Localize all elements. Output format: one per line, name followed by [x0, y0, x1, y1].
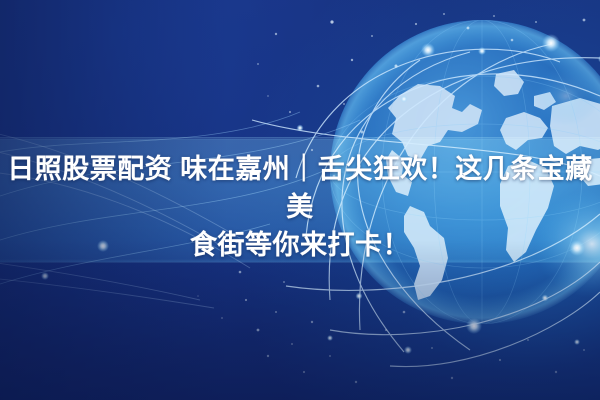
- banner-headline: 日照股票配资 味在嘉州｜舌尖狂欢！这几条宝藏美 食街等你来打卡！: [0, 150, 600, 264]
- headline-line-1: 日照股票配资 味在嘉州｜舌尖狂欢！这几条宝藏美: [2, 150, 598, 226]
- headline-line-2: 食街等你来打卡！: [2, 226, 598, 264]
- banner-image: 日照股票配资 味在嘉州｜舌尖狂欢！这几条宝藏美 食街等你来打卡！: [0, 0, 600, 400]
- band-top-edge: [0, 137, 600, 140]
